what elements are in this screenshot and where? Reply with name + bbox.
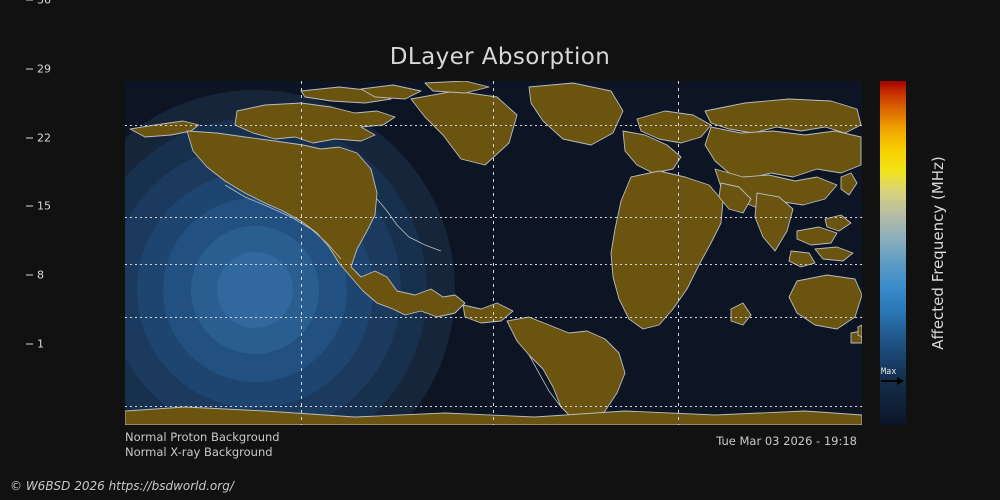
colorbar-tick-mark (26, 0, 33, 1)
colorbar-tick-label: 1 (37, 338, 44, 351)
colorbar-tick-label: 29 (37, 62, 51, 75)
coastline-layer (125, 81, 862, 425)
proton-background-status: Normal Proton Background (125, 430, 280, 444)
max-marker-label: Max (881, 367, 896, 377)
colorbar-tick-22: 22 (26, 131, 51, 144)
colorbar-tick-36: 36 (26, 0, 51, 7)
colorbar-tick-29: 29 (26, 62, 51, 75)
colorbar-tick-label: 8 (37, 269, 44, 282)
colorbar-tick-15: 15 (26, 200, 51, 213)
xray-background-status: Normal X-ray Background (125, 445, 273, 459)
colorbar-tick-mark (26, 206, 33, 207)
timestamp: Tue Mar 03 2026 - 19:18 (716, 434, 857, 448)
colorbar-tick-mark (26, 137, 33, 138)
colorbar-tick-label: 15 (37, 200, 51, 213)
colorbar-tick-8: 8 (26, 269, 44, 282)
colorbar-tick-mark (26, 68, 33, 69)
max-marker-arrow-icon (881, 380, 903, 382)
colorbar-tick-label: 22 (37, 131, 51, 144)
world-map[interactable] (125, 81, 862, 425)
colorbar-tick-1: 1 (26, 338, 44, 351)
colorbar-tick-label: 36 (37, 0, 51, 7)
page-title: DLayer Absorption (0, 44, 1000, 70)
colorbar-axis-label: Affected Frequency (MHz) (929, 81, 951, 425)
colorbar-max-marker: Max (880, 367, 910, 389)
copyright-notice: © W6BSD 2026 https://bsdworld.org/ (10, 479, 234, 493)
app-root: DLayer Absorption (0, 0, 1000, 500)
colorbar-tick-mark (26, 344, 33, 345)
colorbar-tick-mark (26, 275, 33, 276)
colorbar-ticks: 1815222936 (26, 0, 96, 344)
